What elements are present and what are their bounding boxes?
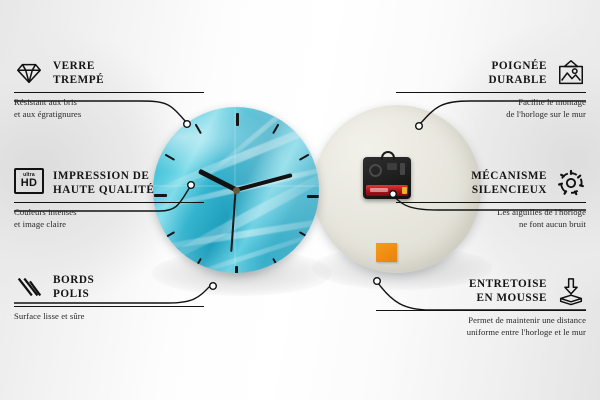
feature-description: Permet de maintenir une distanceuniforme… [376, 315, 586, 338]
title-underline [14, 306, 204, 307]
foam-spacer [376, 243, 397, 262]
picture-frame-hanger-icon [556, 58, 586, 88]
hour-marker [236, 196, 238, 273]
feature-header: POIGNÉEDURABLE [396, 58, 586, 88]
feature-verre-trempe: VERRETREMPÉ Résistant aux briset aux égr… [14, 58, 204, 121]
mechanism-dial [369, 164, 382, 177]
title-underline [396, 92, 586, 93]
feature-header: ENTRETOISEEN MOUSSE [376, 276, 586, 306]
battery-label [370, 188, 388, 192]
badge-large-text: HD [21, 178, 38, 189]
ultra-hd-badge-icon: ultra HD [14, 168, 44, 198]
title-underline [14, 202, 204, 203]
infographic-canvas: VERRETREMPÉ Résistant aux briset aux égr… [0, 0, 600, 400]
title-underline [14, 92, 204, 93]
title-underline [396, 202, 586, 203]
feature-title: ENTRETOISEEN MOUSSE [469, 277, 547, 306]
feature-description: Couleurs intenseset image claire [14, 207, 204, 230]
feature-entretoise-mousse: ENTRETOISEEN MOUSSE Permet de maintenir … [376, 276, 586, 339]
diamond-icon [14, 58, 44, 88]
feature-description: Résistant aux briset aux égratignures [14, 97, 204, 120]
diagonal-lines-icon [14, 272, 44, 302]
hand-center-cap [233, 187, 240, 194]
feature-impression: ultra HD IMPRESSION DEHAUTE QUALITÉ Coul… [14, 168, 204, 231]
feature-title: MÉCANISMESILENCIEUX [471, 169, 547, 198]
gear-icon [556, 168, 586, 198]
hour-marker [236, 113, 238, 196]
feature-header: BORDSPOLIS [14, 272, 204, 302]
feature-poignee-durable: POIGNÉEDURABLE Facilite le montagede l'h… [396, 58, 586, 121]
foam-spacer-arrow-icon [556, 276, 586, 306]
hour-marker [237, 195, 319, 197]
feature-header: MÉCANISMESILENCIEUX [396, 168, 586, 198]
feature-description: Surface lisse et sûre [14, 311, 204, 323]
feature-title: POIGNÉEDURABLE [488, 59, 547, 88]
feature-title: VERRETREMPÉ [53, 59, 104, 88]
feature-bords-polis: BORDSPOLIS Surface lisse et sûre [14, 272, 204, 323]
hanger-loop-icon [381, 151, 395, 160]
feature-description: Facilite le montagede l'horloge sur le m… [396, 97, 586, 120]
feature-header: ultra HD IMPRESSION DEHAUTE QUALITÉ [14, 168, 204, 198]
feature-title: BORDSPOLIS [53, 273, 94, 302]
feature-mecanisme-silencieux: MÉCANISMESILENCIEUX Les aiguilles de l'h… [396, 168, 586, 231]
feature-description: Les aiguilles de l'horlogene font aucun … [396, 207, 586, 230]
feature-title: IMPRESSION DEHAUTE QUALITÉ [53, 169, 154, 198]
title-underline [376, 310, 586, 311]
feature-header: VERRETREMPÉ [14, 58, 204, 88]
